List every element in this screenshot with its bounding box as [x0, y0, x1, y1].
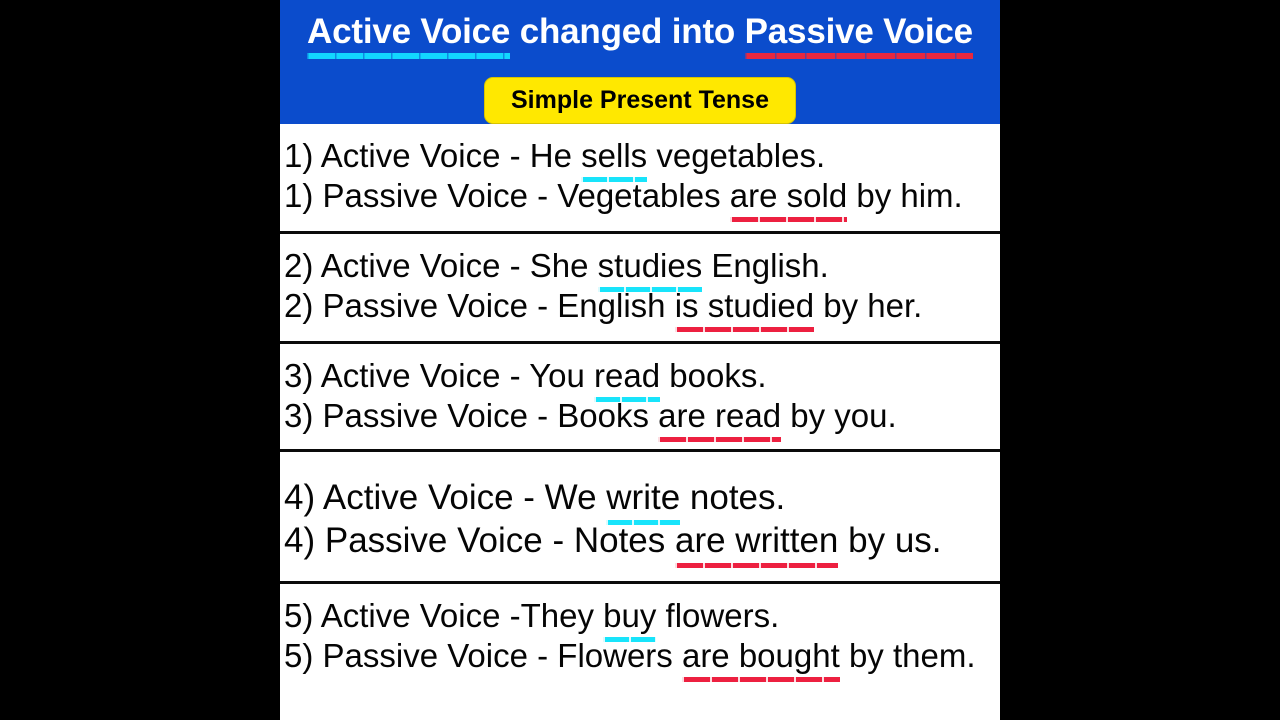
active-voice-line-highlight-text: write — [606, 478, 680, 517]
passive-voice-line-subject: Notes — [574, 521, 675, 560]
passive-voice-line-object: by him. — [847, 177, 963, 214]
passive-voice-line-label: 1) Passive Voice - — [284, 177, 557, 214]
tense-badge: Simple Present Tense — [484, 77, 796, 124]
passive-voice-line-object: by them. — [840, 637, 976, 674]
active-voice-line-highlight: write — [606, 476, 680, 519]
passive-voice-line-underline — [675, 563, 838, 568]
example-row: 3) Active Voice - You read books.3) Pass… — [280, 344, 1000, 452]
screen: Active Voice changed into Passive Voice … — [0, 0, 1280, 720]
active-voice-line-object: vegetables. — [647, 137, 825, 174]
passive-voice-line-object: by you. — [781, 397, 897, 434]
active-voice-line-label: 4) Active Voice - — [284, 478, 545, 517]
passive-voice-line-subject: Flowers — [557, 637, 682, 674]
title-passive-voice-text: Passive Voice — [745, 12, 973, 51]
header-banner: Active Voice changed into Passive Voice … — [280, 0, 1000, 124]
content-panel: Active Voice changed into Passive Voice … — [280, 0, 1000, 720]
passive-voice-line-underline — [658, 437, 781, 442]
passive-voice-line-label: 4) Passive Voice - — [284, 521, 574, 560]
passive-voice-line-underline — [682, 677, 840, 682]
example-row: 1) Active Voice - He sells vegetables.1)… — [280, 124, 1000, 234]
passive-voice-line-highlight: are read — [658, 396, 781, 436]
active-voice-line-object: books. — [660, 357, 766, 394]
active-voice-line: 2) Active Voice - She studies English. — [280, 246, 1000, 286]
active-voice-line-highlight-text: sells — [581, 137, 647, 174]
page-title: Active Voice changed into Passive Voice — [280, 12, 1000, 52]
active-voice-line-subject: We — [545, 478, 607, 517]
passive-voice-line-highlight: are written — [675, 519, 838, 562]
active-voice-line: 4) Active Voice - We write notes. — [280, 476, 1000, 519]
active-voice-line-highlight-text: buy — [603, 597, 656, 634]
passive-voice-line-highlight: are sold — [730, 176, 847, 216]
passive-voice-line-underline — [730, 217, 847, 222]
passive-voice-line: 1) Passive Voice - Vegetables are sold b… — [280, 176, 1000, 216]
title-active-voice-text: Active Voice — [307, 12, 510, 51]
active-voice-line-label: 5) Active Voice - — [284, 597, 521, 634]
active-voice-line-highlight: read — [594, 356, 660, 396]
active-voice-line-label: 3) Active Voice - — [284, 357, 529, 394]
passive-voice-line-subject: Vegetables — [557, 177, 729, 214]
active-voice-line-highlight: sells — [581, 136, 647, 176]
passive-voice-line-highlight-text: are sold — [730, 177, 847, 214]
active-voice-line: 1) Active Voice - He sells vegetables. — [280, 136, 1000, 176]
active-voice-line-highlight: studies — [598, 246, 703, 286]
active-voice-line-subject: You — [529, 357, 594, 394]
passive-voice-line-object: by us. — [838, 521, 941, 560]
example-row: 5) Active Voice -They buy flowers.5) Pas… — [280, 584, 1000, 710]
passive-voice-line-highlight-text: are bought — [682, 637, 840, 674]
passive-voice-line-highlight-text: are read — [658, 397, 781, 434]
passive-voice-line: 2) Passive Voice - English is studied by… — [280, 286, 1000, 326]
passive-voice-line: 5) Passive Voice - Flowers are bought by… — [280, 636, 1000, 676]
passive-voice-line-underline — [675, 327, 814, 332]
active-voice-line-highlight-text: studies — [598, 247, 703, 284]
passive-voice-line-label: 3) Passive Voice - — [284, 397, 557, 434]
letterbox-left — [0, 0, 280, 720]
passive-voice-line-highlight: is studied — [675, 286, 814, 326]
letterbox-right — [1000, 0, 1280, 720]
active-voice-line-label: 2) Active Voice - — [284, 247, 530, 284]
passive-voice-line: 4) Passive Voice - Notes are written by … — [280, 519, 1000, 562]
examples-list: 1) Active Voice - He sells vegetables.1)… — [280, 124, 1000, 710]
example-row: 2) Active Voice - She studies English.2)… — [280, 234, 1000, 344]
passive-voice-line-subject: Books — [557, 397, 658, 434]
title-active-voice: Active Voice — [307, 12, 510, 52]
title-passive-voice: Passive Voice — [745, 12, 973, 52]
passive-voice-line-highlight-text: is studied — [675, 287, 814, 324]
passive-voice-line-object: by her. — [814, 287, 922, 324]
passive-voice-line-highlight-text: are written — [675, 521, 838, 560]
active-voice-line: 5) Active Voice -They buy flowers. — [280, 596, 1000, 636]
active-voice-line-highlight-text: read — [594, 357, 660, 394]
active-voice-line-object: notes. — [680, 478, 785, 517]
active-voice-line-label: 1) Active Voice - — [284, 137, 530, 174]
active-voice-line-object: English. — [702, 247, 829, 284]
passive-voice-line: 3) Passive Voice - Books are read by you… — [280, 396, 1000, 436]
active-voice-line-subject: He — [530, 137, 581, 174]
passive-voice-line-subject: English — [557, 287, 674, 324]
passive-voice-line-label: 2) Passive Voice - — [284, 287, 557, 324]
title-active-underline — [307, 53, 510, 59]
active-voice-line-highlight: buy — [603, 596, 656, 636]
active-voice-line: 3) Active Voice - You read books. — [280, 356, 1000, 396]
active-voice-line-object: flowers. — [656, 597, 779, 634]
passive-voice-line-label: 5) Passive Voice - — [284, 637, 557, 674]
active-voice-line-subject: They — [521, 597, 604, 634]
title-line: Active Voice changed into Passive Voice — [307, 12, 973, 52]
passive-voice-line-highlight: are bought — [682, 636, 840, 676]
title-connector-text: changed into — [510, 12, 744, 51]
active-voice-line-subject: She — [530, 247, 598, 284]
badge-container: Simple Present Tense — [280, 77, 1000, 124]
title-passive-underline — [745, 53, 973, 59]
example-row: 4) Active Voice - We write notes.4) Pass… — [280, 452, 1000, 584]
